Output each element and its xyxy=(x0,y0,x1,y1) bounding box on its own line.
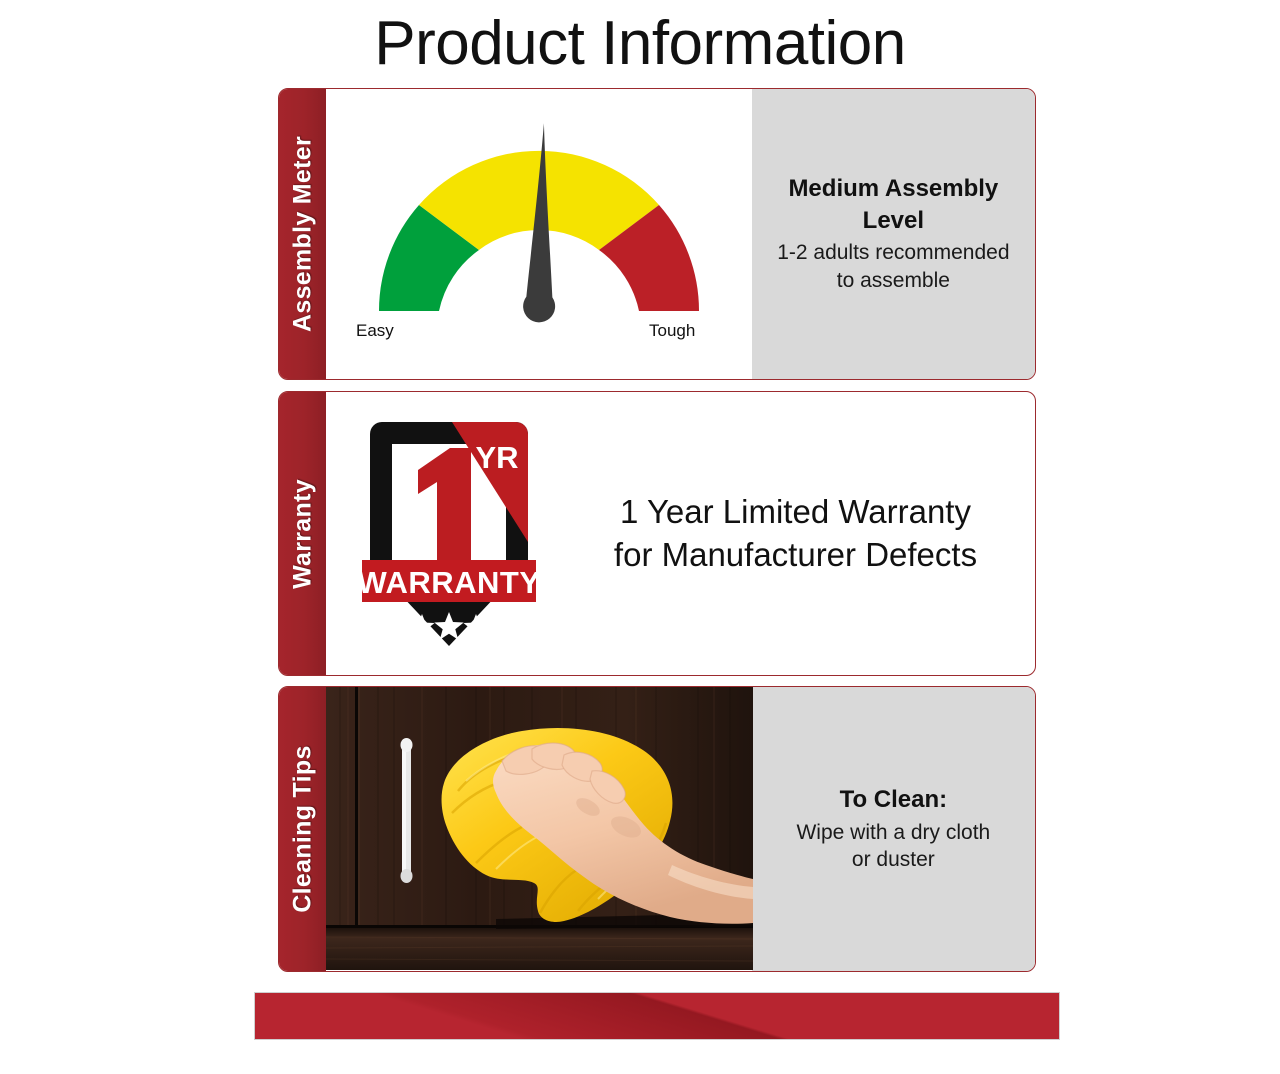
panel-cleaning-tips: Cleaning Tips xyxy=(278,686,1036,972)
shield-icon: YR WARRANTY xyxy=(354,414,544,654)
tab-warranty: Warranty xyxy=(279,392,326,675)
gauge-label-tough: Tough xyxy=(649,321,695,341)
assembly-body: Easy Tough Medium Assembly Level 1-2 adu… xyxy=(326,89,1035,379)
bottom-banner xyxy=(254,992,1060,1040)
cleaning-body: To Clean: Wipe with a dry cloth or duste… xyxy=(326,687,1035,971)
tab-assembly-meter: Assembly Meter xyxy=(279,89,326,379)
gauge-label-easy: Easy xyxy=(356,321,394,341)
tab-cleaning-tips: Cleaning Tips xyxy=(279,687,326,971)
tab-assembly-meter-label: Assembly Meter xyxy=(288,136,317,332)
cleaning-subtext-line2: or duster xyxy=(852,846,935,874)
warranty-body: YR WARRANTY 1 Year Limited Warrantyfor M… xyxy=(326,392,1035,675)
cleaning-photo-illustration xyxy=(326,687,753,970)
bottom-banner-shine xyxy=(255,993,1059,1039)
warranty-badge-area: YR WARRANTY xyxy=(326,392,574,675)
assembly-gauge-area: Easy Tough xyxy=(326,89,752,379)
panel-assembly-meter: Assembly Meter Easy Tough xyxy=(278,88,1036,380)
page-title: Product Information xyxy=(0,8,1280,79)
cabinet-handle-icon xyxy=(401,738,413,883)
assembly-info-area: Medium Assembly Level 1-2 adults recomme… xyxy=(752,89,1035,379)
assembly-gauge: Easy Tough xyxy=(326,89,753,378)
cleaning-photo-area xyxy=(326,687,752,971)
warranty-text-line2: for Manufacturer Defects xyxy=(614,536,977,573)
cleaning-headline: To Clean: xyxy=(840,784,948,816)
tab-warranty-label: Warranty xyxy=(288,479,317,589)
warranty-corner-label: YR xyxy=(475,440,518,475)
tab-cleaning-tips-label: Cleaning Tips xyxy=(288,745,317,912)
warranty-band-label: WARRANTY xyxy=(357,565,540,600)
assembly-headline: Medium Assembly Level xyxy=(774,173,1013,236)
cleaning-info-area: To Clean: Wipe with a dry cloth or duste… xyxy=(752,687,1035,971)
panel-warranty: Warranty xyxy=(278,391,1036,676)
warranty-text-area: 1 Year Limited Warrantyfor Manufacturer … xyxy=(574,392,1035,675)
assembly-subtext: 1-2 adults recommended to assemble xyxy=(774,239,1013,294)
warranty-text-line1: 1 Year Limited Warranty xyxy=(620,493,971,530)
cleaning-subtext-line1: Wipe with a dry cloth xyxy=(796,819,990,847)
warranty-badge-icon: YR WARRANTY xyxy=(354,414,544,654)
cleaning-photo xyxy=(326,687,753,970)
warranty-text-block: 1 Year Limited Warrantyfor Manufacturer … xyxy=(614,491,977,575)
